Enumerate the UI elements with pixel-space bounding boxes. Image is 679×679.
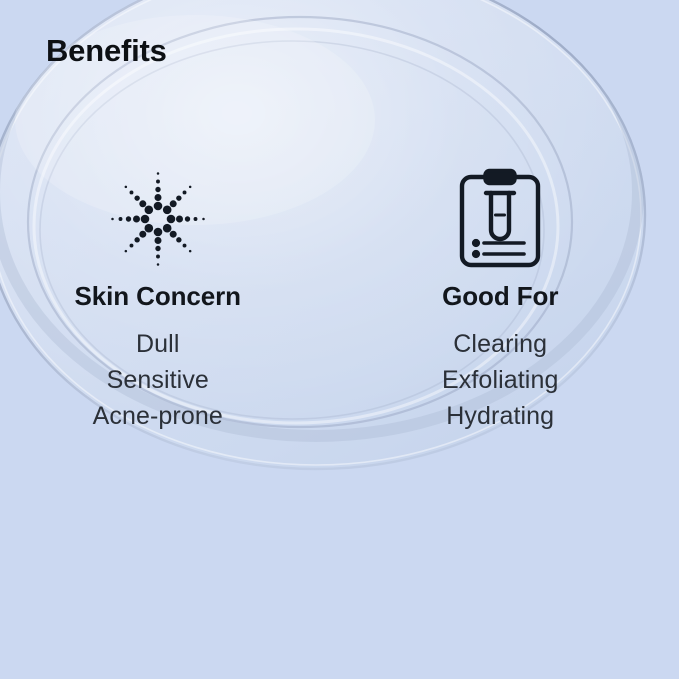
benefit-column-good-for: Good For Clearing Exfoliating Hydrating <box>340 160 679 434</box>
benefit-list-good-for: Clearing Exfoliating Hydrating <box>442 326 558 434</box>
column-heading-good-for: Good For <box>442 282 558 312</box>
column-heading-skin-concern: Skin Concern <box>75 282 241 312</box>
list-item: Sensitive <box>93 362 223 398</box>
benefit-columns: Skin Concern Dull Sensitive Acne-prone <box>0 160 679 434</box>
list-item: Acne-prone <box>93 398 223 434</box>
list-item: Clearing <box>442 326 558 362</box>
sparkle-burst-icon <box>106 160 210 278</box>
sparkle-burst-svg <box>106 167 210 271</box>
benefits-infographic: Benefits Skin Concern Dull Sensitive Acn… <box>0 0 679 679</box>
benefit-column-skin-concern: Skin Concern Dull Sensitive Acne-prone <box>0 160 340 434</box>
list-item: Hydrating <box>442 398 558 434</box>
clipboard-test-tube-svg <box>454 167 546 271</box>
page-title: Benefits <box>46 33 167 69</box>
list-item: Dull <box>93 326 223 362</box>
benefit-list-skin-concern: Dull Sensitive Acne-prone <box>93 326 223 434</box>
clipboard-test-tube-icon <box>454 160 546 278</box>
list-item: Exfoliating <box>442 362 558 398</box>
